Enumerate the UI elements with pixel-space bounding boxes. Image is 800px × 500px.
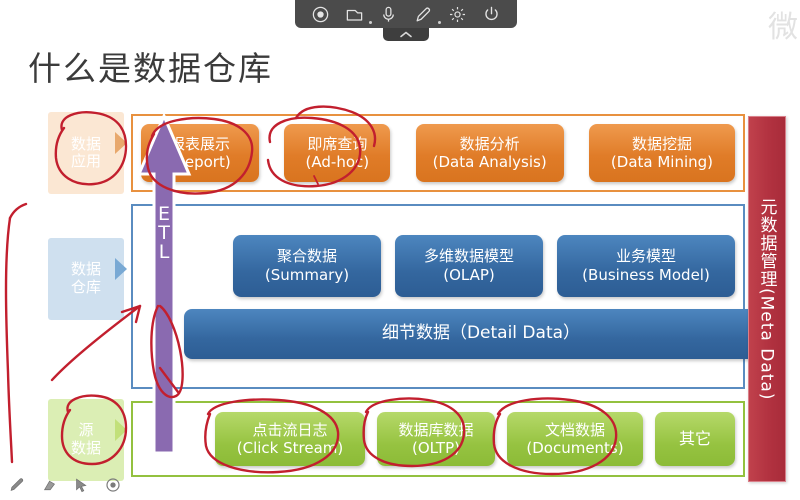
box-documents-cn: 文档数据 [545, 421, 605, 439]
pen-icon[interactable] [8, 476, 26, 494]
box-adhoc-cn: 即席查询 [307, 135, 367, 153]
box-olap-cn: 多维数据模型 [424, 247, 514, 265]
box-click-stream-en: (Click Stream) [237, 439, 344, 457]
box-data-mining-cn: 数据挖掘 [632, 135, 692, 153]
ink-left-margin-hook [10, 204, 26, 218]
layer-label-source: 源 数据 [55, 404, 117, 476]
box-business-model-en: (Business Model) [582, 266, 710, 284]
meta-data-management-bar: 元数据管理(Meta Data) [748, 116, 786, 482]
box-data-mining[interactable]: 数据挖掘 (Data Mining) [589, 124, 735, 182]
box-olap[interactable]: 多维数据模型 (OLAP) [395, 235, 543, 297]
box-detail-data[interactable]: 细节数据（Detail Data） [184, 309, 778, 359]
eraser-icon[interactable] [40, 476, 58, 494]
box-business-model-cn: 业务模型 [616, 247, 676, 265]
box-data-analysis-en: (Data Analysis) [433, 153, 547, 171]
screenshot-icon[interactable] [343, 3, 365, 25]
etl-label: E T L [152, 205, 176, 262]
status-dot-left [369, 21, 372, 24]
record-icon[interactable] [309, 3, 331, 25]
toolbar-collapse-handle[interactable] [383, 28, 429, 41]
layer-label-line2: 数据 [71, 440, 101, 457]
screen: 微 [0, 0, 800, 500]
panel-application: 报表展示 (Report) 即席查询 (Ad-hoc) 数据分析 (Data A… [131, 114, 745, 192]
layer-label-line2: 仓库 [71, 279, 101, 296]
box-adhoc-en: (Ad-hoc) [306, 153, 370, 171]
box-other[interactable]: 其它 [655, 412, 735, 466]
tab-pointer [115, 258, 127, 280]
box-oltp[interactable]: 数据库数据 (OLTP) [377, 412, 495, 466]
annotation-toolbar[interactable] [8, 476, 122, 494]
etl-arrow-icon [136, 112, 192, 457]
ink-left-margin-stroke [6, 218, 12, 462]
box-summary[interactable]: 聚合数据 (Summary) [233, 235, 381, 297]
box-data-analysis[interactable]: 数据分析 (Data Analysis) [416, 124, 564, 182]
box-detail-data-cn: 细节数据（Detail Data） [382, 323, 580, 344]
box-documents-en: (Documents) [526, 439, 623, 457]
box-data-mining-en: (Data Mining) [611, 153, 713, 171]
microphone-icon[interactable] [378, 3, 400, 25]
layer-label-application: 数据 应用 [55, 117, 117, 189]
meta-data-management-label: 元数据管理(Meta Data) [755, 198, 780, 400]
box-oltp-en: (OLTP) [412, 439, 460, 457]
layer-label-line1: 数据 [71, 261, 101, 278]
record-dot-icon[interactable] [104, 476, 122, 494]
power-icon[interactable] [481, 3, 503, 25]
panel-warehouse: 聚合数据 (Summary) 多维数据模型 (OLAP) 业务模型 (Busin… [131, 204, 745, 389]
box-summary-en: (Summary) [265, 266, 349, 284]
box-documents[interactable]: 文档数据 (Documents) [507, 412, 643, 466]
box-adhoc[interactable]: 即席查询 (Ad-hoc) [284, 124, 390, 182]
layer-label-line2: 应用 [71, 153, 101, 170]
status-dot-right [438, 21, 441, 24]
gear-icon[interactable] [446, 3, 468, 25]
box-click-stream-cn: 点击流日志 [252, 421, 327, 439]
layer-label-warehouse: 数据 仓库 [55, 243, 117, 315]
recorder-toolbar[interactable] [295, 0, 517, 28]
layer-label-line1: 源 [78, 422, 93, 439]
page-title: 什么是数据仓库 [28, 42, 273, 90]
box-oltp-cn: 数据库数据 [398, 421, 473, 439]
cursor-icon[interactable] [72, 476, 90, 494]
pen-tool-icon[interactable] [412, 3, 434, 25]
panel-source: 点击流日志 (Click Stream) 数据库数据 (OLTP) 文档数据 (… [131, 401, 745, 477]
box-olap-en: (OLAP) [443, 266, 495, 284]
box-summary-cn: 聚合数据 [277, 247, 337, 265]
box-data-analysis-cn: 数据分析 [460, 135, 520, 153]
watermark: 微 [768, 2, 798, 46]
layer-label-line1: 数据 [71, 136, 101, 153]
box-click-stream[interactable]: 点击流日志 (Click Stream) [215, 412, 365, 466]
etl-letter-l: L [152, 243, 176, 262]
box-other-cn: 其它 [679, 429, 711, 449]
tab-pointer [115, 419, 127, 441]
box-business-model[interactable]: 业务模型 (Business Model) [557, 235, 735, 297]
tab-pointer [115, 132, 127, 154]
warehouse-top-row: 聚合数据 (Summary) 多维数据模型 (OLAP) 业务模型 (Busin… [141, 235, 735, 297]
